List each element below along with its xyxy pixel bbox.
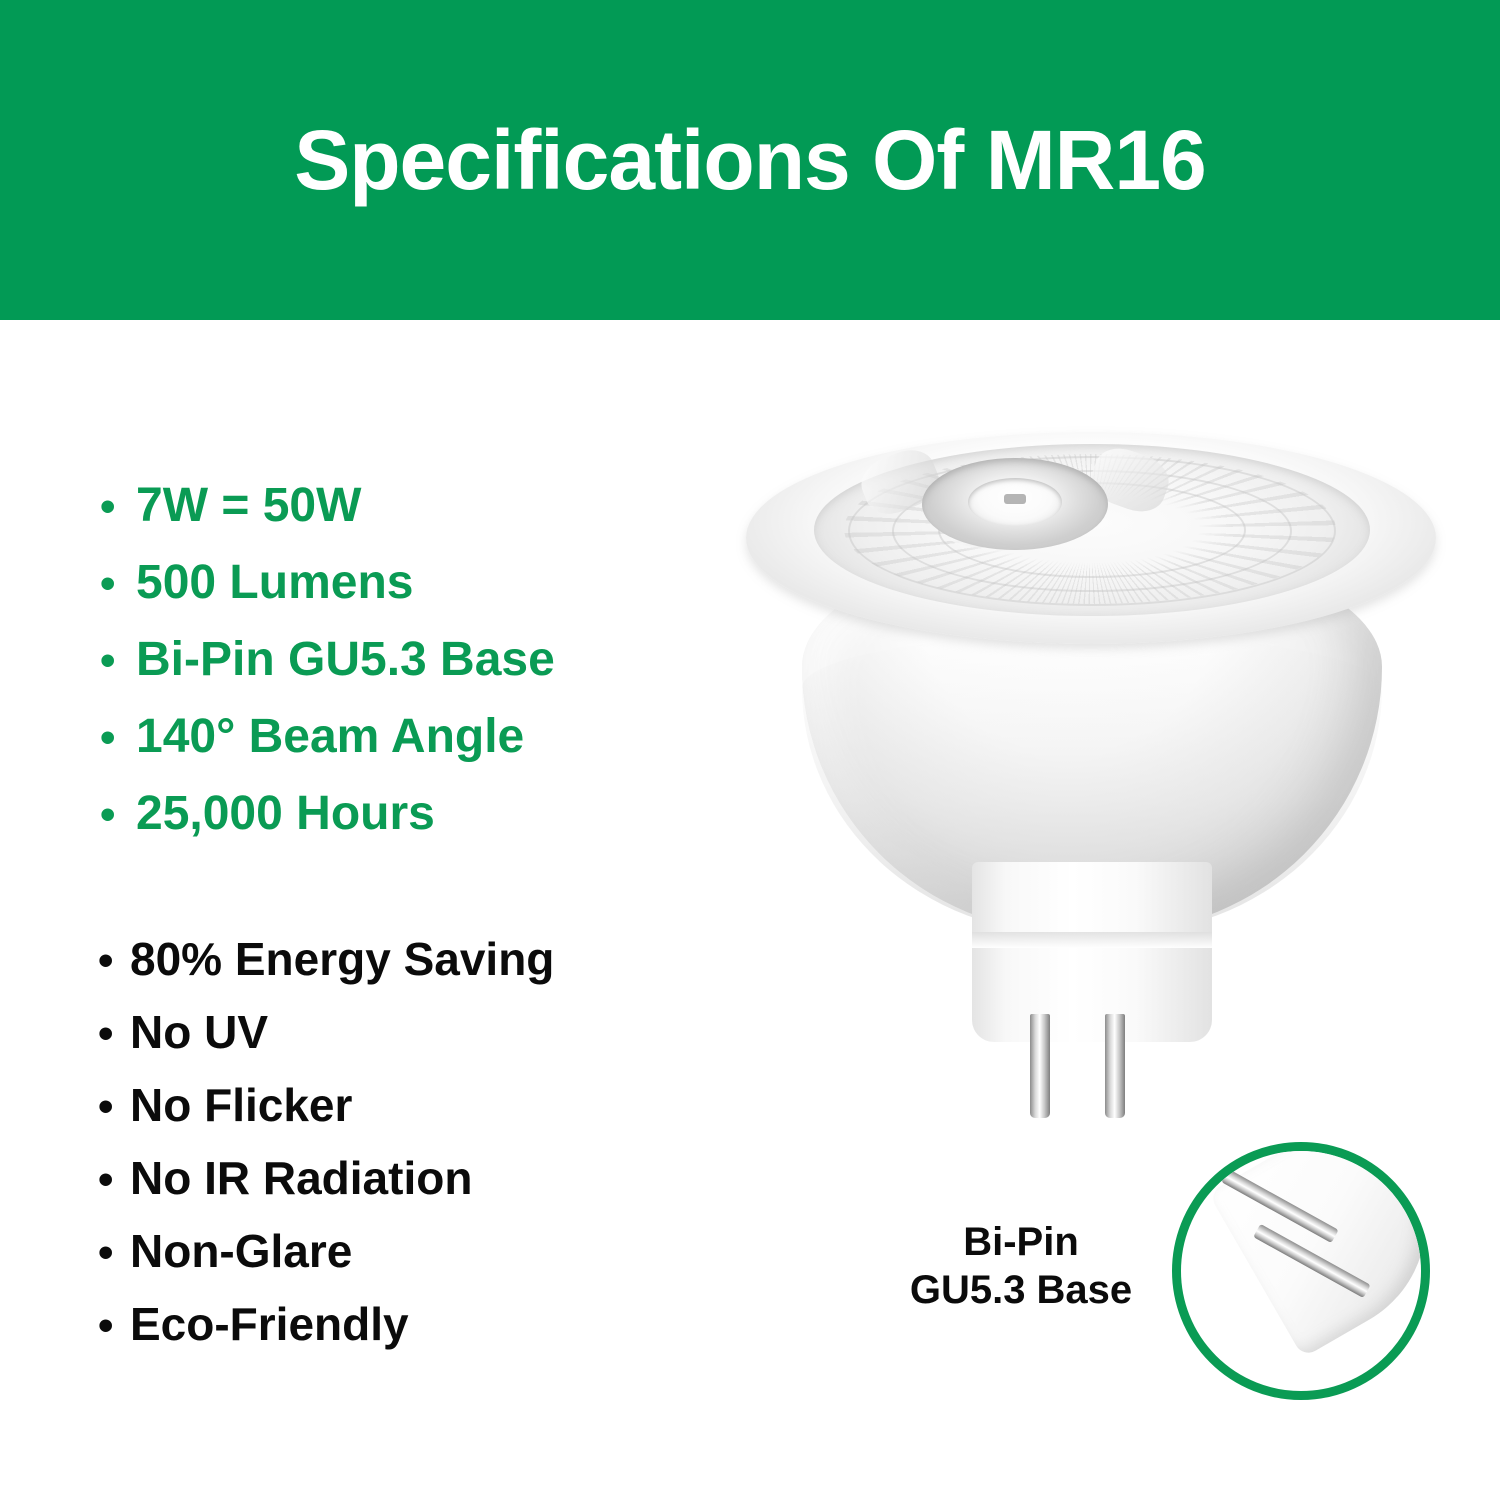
bullet-icon: • bbox=[100, 716, 136, 760]
bulb-pin-right bbox=[1105, 1014, 1125, 1118]
secondary-spec-list: • 80% Energy Saving • No UV • No Flicker… bbox=[98, 932, 738, 1370]
spec-label: Non-Glare bbox=[130, 1224, 352, 1278]
spec-label: Bi-Pin GU5.3 Base bbox=[136, 632, 555, 687]
led-chip bbox=[1004, 494, 1026, 504]
header-banner: Specifications Of MR16 bbox=[0, 0, 1500, 320]
list-item: • No IR Radiation bbox=[98, 1151, 738, 1224]
bullet-icon: • bbox=[98, 939, 130, 983]
primary-spec-list: • 7W = 50W • 500 Lumens • Bi-Pin GU5.3 B… bbox=[100, 478, 720, 863]
bipin-callout-label: Bi-Pin GU5.3 Base bbox=[880, 1218, 1162, 1314]
mr16-bulb-image bbox=[736, 424, 1446, 1134]
list-item: • Non-Glare bbox=[98, 1224, 738, 1297]
bullet-icon: • bbox=[98, 1158, 130, 1202]
bullet-icon: • bbox=[100, 485, 136, 529]
spec-label: No IR Radiation bbox=[130, 1151, 472, 1205]
list-item: • 140° Beam Angle bbox=[100, 709, 720, 786]
list-item: • 80% Energy Saving bbox=[98, 932, 738, 1005]
bipin-label-line1: Bi-Pin bbox=[880, 1218, 1162, 1266]
list-item: • Bi-Pin GU5.3 Base bbox=[100, 632, 720, 709]
list-item: • 25,000 Hours bbox=[100, 786, 720, 863]
spec-label: 500 Lumens bbox=[136, 555, 413, 610]
spec-label: 80% Energy Saving bbox=[130, 932, 554, 986]
bullet-icon: • bbox=[98, 1304, 130, 1348]
list-item: • 500 Lumens bbox=[100, 555, 720, 632]
list-item: • 7W = 50W bbox=[100, 478, 720, 555]
bullet-icon: • bbox=[98, 1012, 130, 1056]
page-title: Specifications Of MR16 bbox=[0, 0, 1500, 320]
spec-label: 7W = 50W bbox=[136, 478, 361, 533]
list-item: • No Flicker bbox=[98, 1078, 738, 1151]
bulb-base-neck bbox=[972, 862, 1212, 1042]
spec-label: Eco-Friendly bbox=[130, 1297, 409, 1351]
list-item: • No UV bbox=[98, 1005, 738, 1078]
bipin-base-cap bbox=[1208, 1142, 1430, 1358]
specification-poster: Specifications Of MR16 • 7W = 50W • 500 … bbox=[0, 0, 1500, 1500]
bipin-zoom-circle bbox=[1172, 1142, 1430, 1400]
bulb-base-band bbox=[972, 932, 1212, 948]
bipin-callout: Bi-Pin GU5.3 Base bbox=[880, 1140, 1420, 1390]
spec-label: 140° Beam Angle bbox=[136, 709, 524, 764]
spec-label: No UV bbox=[130, 1005, 268, 1059]
bullet-icon: • bbox=[98, 1231, 130, 1275]
bullet-icon: • bbox=[100, 562, 136, 606]
spec-label: No Flicker bbox=[130, 1078, 352, 1132]
bullet-icon: • bbox=[100, 639, 136, 683]
spec-label: 25,000 Hours bbox=[136, 786, 435, 841]
bullet-icon: • bbox=[100, 793, 136, 837]
list-item: • Eco-Friendly bbox=[98, 1297, 738, 1370]
bullet-icon: • bbox=[98, 1085, 130, 1129]
bipin-label-line2: GU5.3 Base bbox=[880, 1266, 1162, 1314]
bulb-pin-left bbox=[1030, 1014, 1050, 1118]
